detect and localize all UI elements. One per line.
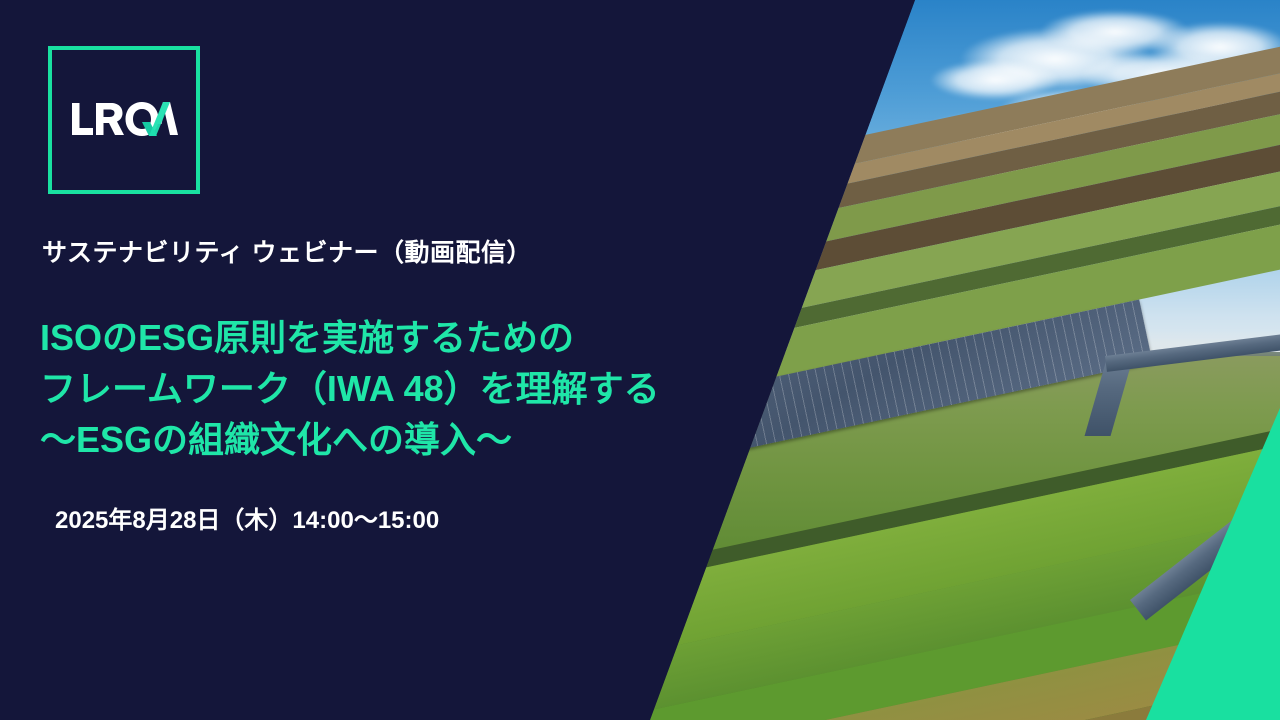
headline-line-1: ISOのESG原則を実施するための xyxy=(40,312,660,363)
lrqa-logo[interactable] xyxy=(48,46,200,194)
headline-line-2: フレームワーク（IWA 48）を理解する xyxy=(40,363,660,414)
event-datetime: 2025年8月28日（木）14:00～15:00 xyxy=(55,500,439,535)
page-title: ISOのESG原則を実施するための フレームワーク（IWA 48）を理解する ～… xyxy=(40,312,660,465)
headline-line-3: ～ESGの組織文化への導入～ xyxy=(40,414,660,465)
webinar-banner: サステナビリティ ウェビナー（動画配信） ISOのESG原則を実施するための フ… xyxy=(0,0,1280,720)
eyebrow-label: サステナビリティ ウェビナー（動画配信） xyxy=(42,233,532,269)
lrqa-wordmark xyxy=(70,99,178,141)
banner-content: サステナビリティ ウェビナー（動画配信） ISOのESG原則を実施するための フ… xyxy=(0,0,760,720)
